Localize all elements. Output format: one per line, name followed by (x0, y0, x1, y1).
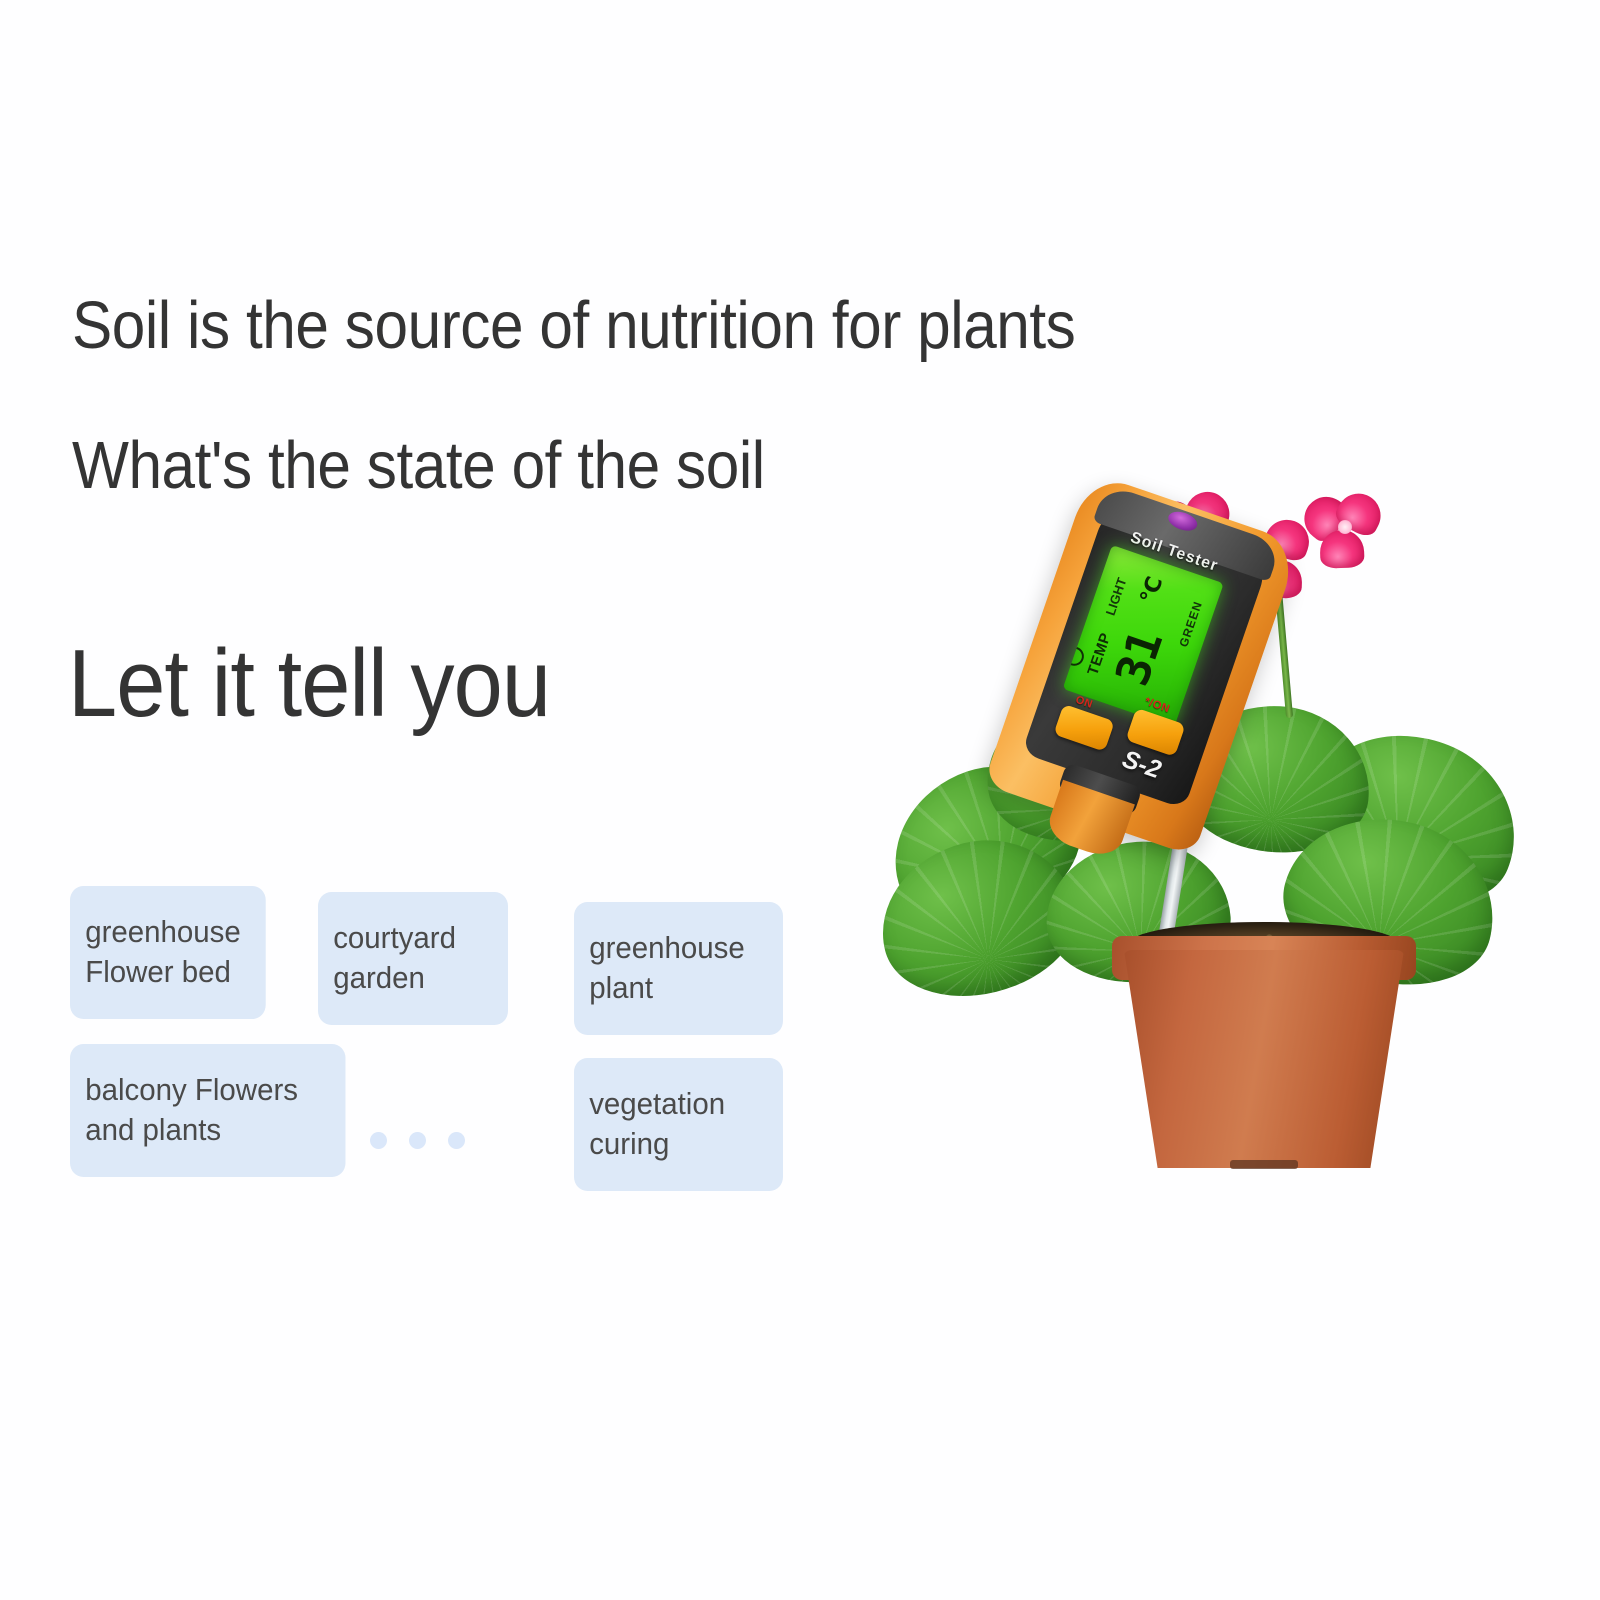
ellipsis-dot (409, 1132, 426, 1149)
tag-greenhouse-plant[interactable]: greenhouse plant (574, 902, 783, 1035)
flower-pot (1124, 950, 1404, 1168)
marketing-banner: Soil is the source of nutrition for plan… (0, 0, 1600, 1600)
tag-label-line2: and plants (85, 1110, 328, 1150)
product-photo: Soil Tester TEMP LIGHT 31 ℃ GREEN ON */O… (880, 470, 1540, 1200)
flower-petal (1319, 529, 1364, 569)
ellipsis-dot (370, 1132, 387, 1149)
tag-label-line2: Flower bed (85, 952, 248, 992)
tag-vegetation-curing[interactable]: vegetation curing (574, 1058, 783, 1191)
tag-label-line2: plant (589, 968, 766, 1008)
tag-row-2: balcony Flowers and plants vegetation cu… (70, 1034, 830, 1182)
headline-block: Soil is the source of nutrition for plan… (72, 292, 1412, 499)
tag-label-line1: balcony Flowers (85, 1070, 328, 1110)
tag-label-line1: vegetation (589, 1084, 766, 1124)
headline-line-1: Soil is the source of nutrition for plan… (72, 292, 1278, 359)
emphasis-headline: Let it tell you (68, 636, 550, 732)
tag-greenhouse-flower-bed[interactable]: greenhouse Flower bed (70, 886, 266, 1019)
tag-label-line2: garden (333, 958, 491, 998)
ellipsis-dot (448, 1132, 465, 1149)
tag-label-line1: courtyard (333, 918, 491, 958)
tag-label-line1: greenhouse (85, 912, 248, 952)
lcd-temperature-unit: ℃ (1135, 573, 1168, 607)
lcd-secondary-label: LIGHT (1103, 576, 1130, 618)
lcd-temperature-value: 31 (1105, 624, 1173, 692)
tag-row-1: greenhouse Flower bed courtyard garden g… (70, 886, 830, 1034)
lcd-sub-label: GREEN (1176, 599, 1205, 649)
tag-courtyard-garden[interactable]: courtyard garden (318, 892, 508, 1025)
more-tags-ellipsis-icon (370, 1132, 465, 1149)
tag-label-line2: curing (589, 1124, 766, 1164)
tag-balcony-flowers-and-plants[interactable]: balcony Flowers and plants (70, 1044, 346, 1177)
flower-center (1338, 520, 1352, 534)
tag-label-line1: greenhouse (589, 928, 766, 968)
flower-bloom (1298, 490, 1390, 572)
pot-foot (1230, 1160, 1298, 1169)
